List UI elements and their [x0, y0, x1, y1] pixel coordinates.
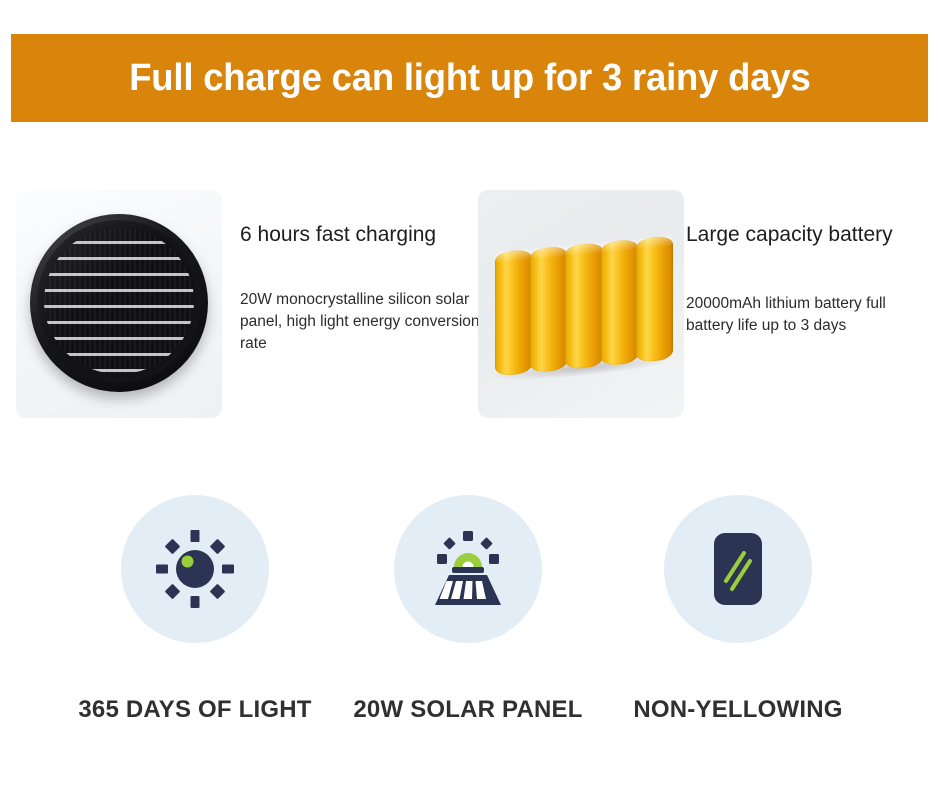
solar-panel-icon — [425, 529, 511, 609]
feature-block-solar-charging: 6 hours fast charging 20W monocrystallin… — [16, 190, 471, 420]
icon-feature-non-yellowing: NON-YELLOWING — [603, 495, 873, 724]
battery-cell — [601, 239, 638, 367]
header-banner: Full charge can light up for 3 rainy day… — [11, 34, 928, 122]
feature-body: 20W monocrystalline silicon solar panel,… — [240, 289, 490, 355]
feature-text-battery: Large capacity battery 20000mAh lithium … — [686, 190, 931, 337]
non-yellowing-panel-icon — [702, 529, 774, 609]
icon-feature-label: 365 DAYS OF LIGHT — [60, 696, 330, 724]
battery-cell — [565, 242, 602, 370]
battery-cell — [530, 246, 567, 374]
icon-circle — [121, 495, 269, 643]
battery-cell — [495, 249, 532, 377]
solar-cell-grid — [44, 228, 194, 374]
icon-circle — [394, 495, 542, 643]
battery-cell-group — [495, 236, 671, 377]
battery-cell — [636, 235, 673, 363]
icon-feature-solar-panel: 20W SOLAR PANEL — [333, 495, 603, 724]
feature-block-battery: Large capacity battery 20000mAh lithium … — [478, 190, 928, 420]
icon-feature-days-of-light: 365 DAYS OF LIGHT — [60, 495, 330, 724]
icon-feature-label: 20W SOLAR PANEL — [333, 696, 603, 724]
lithium-battery-pack-photo — [478, 190, 684, 418]
icon-feature-label: NON-YELLOWING — [603, 696, 873, 724]
feature-heading: 6 hours fast charging — [240, 222, 490, 248]
icon-feature-row: 365 DAYS OF LIGHT 20W SOLAR PANEL — [0, 495, 940, 745]
feature-body: 20000mAh lithium battery full battery li… — [686, 293, 931, 337]
feature-text-solar: 6 hours fast charging 20W monocrystallin… — [240, 190, 490, 355]
icon-circle — [664, 495, 812, 643]
banner-title: Full charge can light up for 3 rainy day… — [129, 57, 810, 100]
round-solar-panel-photo — [16, 190, 222, 418]
feature-heading: Large capacity battery — [686, 222, 931, 248]
solar-panel-disc — [30, 214, 208, 392]
sun-icon — [155, 529, 235, 609]
